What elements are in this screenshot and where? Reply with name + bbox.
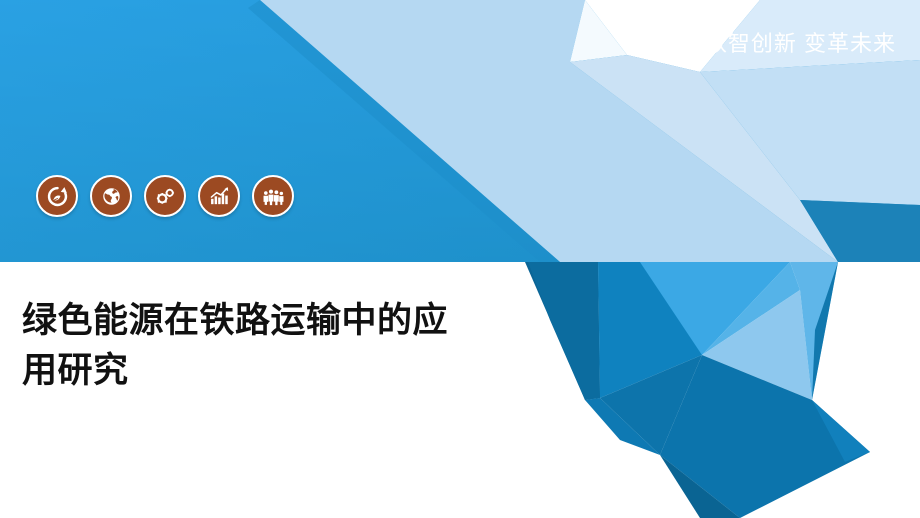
page-title-line-1: 绿色能源在铁路运输中的应 (22, 296, 532, 346)
page-title: 绿色能源在铁路运输中的应 用研究 (22, 296, 532, 395)
slide-tagline: 数智创新 变革未来 (705, 26, 896, 58)
bar-chart-growth-icon-badge[interactable] (198, 175, 240, 217)
gears-icon-badge[interactable] (144, 175, 186, 217)
recycle-leaf-icon (46, 185, 69, 208)
presentation-slide: 数智创新 变革未来 (0, 0, 920, 518)
recycle-leaf-icon-badge[interactable] (36, 175, 78, 217)
icon-badge-row (36, 175, 294, 217)
gears-icon (154, 185, 177, 208)
decorative-polygon-background (0, 0, 920, 518)
bar-chart-growth-icon (208, 185, 231, 208)
people-group-icon (262, 185, 285, 208)
page-title-line-2: 用研究 (22, 346, 532, 396)
people-group-icon-badge[interactable] (252, 175, 294, 217)
globe-icon-badge[interactable] (90, 175, 132, 217)
globe-icon (100, 185, 123, 208)
polygon-deep-left-2 (528, 262, 600, 400)
